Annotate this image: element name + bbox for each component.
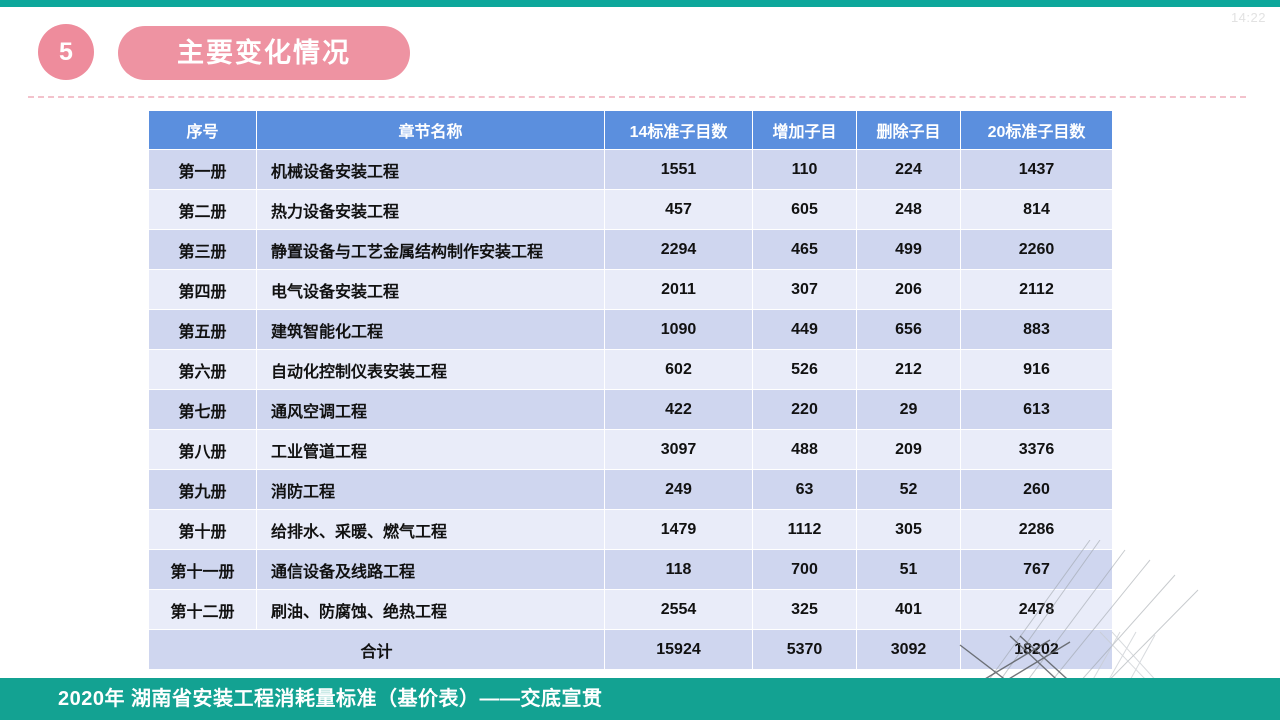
cell-added: 1112 — [753, 510, 857, 550]
cell-total-added: 5370 — [753, 630, 857, 670]
col-header-name: 章节名称 — [257, 111, 605, 150]
col-header-v14: 14标准子目数 — [605, 111, 753, 150]
cell-index: 第三册 — [149, 230, 257, 270]
slide-root: 14:22 5 主要变化情况 序号 章节名称 14标准子目数 增加子目 删除子目… — [0, 0, 1280, 720]
table-row: 第十册 给排水、采暖、燃气工程 1479 1112 305 2286 — [149, 510, 1113, 550]
col-header-index: 序号 — [149, 111, 257, 150]
cell-removed: 212 — [857, 350, 961, 390]
cell-index: 第九册 — [149, 470, 257, 510]
cell-name: 刷油、防腐蚀、绝热工程 — [257, 590, 605, 630]
cell-v20: 2286 — [961, 510, 1113, 550]
cell-v14: 457 — [605, 190, 753, 230]
table-row: 第三册 静置设备与工艺金属结构制作安装工程 2294 465 499 2260 — [149, 230, 1113, 270]
cell-added: 325 — [753, 590, 857, 630]
table-container: 序号 章节名称 14标准子目数 增加子目 删除子目 20标准子目数 第一册 机械… — [148, 110, 1112, 670]
cell-added: 220 — [753, 390, 857, 430]
cell-v14: 602 — [605, 350, 753, 390]
cell-v14: 118 — [605, 550, 753, 590]
cell-index: 第八册 — [149, 430, 257, 470]
cell-v14: 1479 — [605, 510, 753, 550]
cell-v14: 2554 — [605, 590, 753, 630]
cell-removed: 499 — [857, 230, 961, 270]
cell-total-removed: 3092 — [857, 630, 961, 670]
cell-added: 526 — [753, 350, 857, 390]
cell-v20: 883 — [961, 310, 1113, 350]
cell-total-v14: 15924 — [605, 630, 753, 670]
cell-name: 静置设备与工艺金属结构制作安装工程 — [257, 230, 605, 270]
col-header-added: 增加子目 — [753, 111, 857, 150]
cell-added: 307 — [753, 270, 857, 310]
cell-removed: 51 — [857, 550, 961, 590]
cell-v20: 3376 — [961, 430, 1113, 470]
cell-added: 605 — [753, 190, 857, 230]
cell-v14: 249 — [605, 470, 753, 510]
table-row: 第十二册 刷油、防腐蚀、绝热工程 2554 325 401 2478 — [149, 590, 1113, 630]
table-row: 第一册 机械设备安装工程 1551 110 224 1437 — [149, 150, 1113, 190]
cell-index: 第十一册 — [149, 550, 257, 590]
cell-removed: 206 — [857, 270, 961, 310]
cell-v20: 260 — [961, 470, 1113, 510]
cell-v14: 2294 — [605, 230, 753, 270]
cell-v20: 814 — [961, 190, 1113, 230]
cell-v14: 3097 — [605, 430, 753, 470]
table-row: 第五册 建筑智能化工程 1090 449 656 883 — [149, 310, 1113, 350]
changes-table: 序号 章节名称 14标准子目数 增加子目 删除子目 20标准子目数 第一册 机械… — [148, 110, 1113, 670]
cell-added: 110 — [753, 150, 857, 190]
cell-name: 电气设备安装工程 — [257, 270, 605, 310]
cell-v20: 916 — [961, 350, 1113, 390]
cell-index: 第十册 — [149, 510, 257, 550]
cell-index: 第一册 — [149, 150, 257, 190]
page-title: 主要变化情况 — [118, 26, 410, 80]
cell-added: 488 — [753, 430, 857, 470]
cell-name: 消防工程 — [257, 470, 605, 510]
table-row: 第十一册 通信设备及线路工程 118 700 51 767 — [149, 550, 1113, 590]
col-header-v20: 20标准子目数 — [961, 111, 1113, 150]
cell-added: 63 — [753, 470, 857, 510]
cell-added: 449 — [753, 310, 857, 350]
table-header-row: 序号 章节名称 14标准子目数 增加子目 删除子目 20标准子目数 — [149, 111, 1113, 150]
cell-name: 机械设备安装工程 — [257, 150, 605, 190]
cell-v20: 767 — [961, 550, 1113, 590]
cell-name: 通信设备及线路工程 — [257, 550, 605, 590]
cell-total-label: 合计 — [149, 630, 605, 670]
title-divider — [28, 96, 1246, 98]
cell-v20: 2260 — [961, 230, 1113, 270]
cell-removed: 209 — [857, 430, 961, 470]
cell-v14: 1090 — [605, 310, 753, 350]
cell-index: 第五册 — [149, 310, 257, 350]
table-row: 第六册 自动化控制仪表安装工程 602 526 212 916 — [149, 350, 1113, 390]
cell-name: 通风空调工程 — [257, 390, 605, 430]
table-total-row: 合计 15924 5370 3092 18202 — [149, 630, 1113, 670]
cell-name: 自动化控制仪表安装工程 — [257, 350, 605, 390]
table-row: 第二册 热力设备安装工程 457 605 248 814 — [149, 190, 1113, 230]
cell-v20: 2112 — [961, 270, 1113, 310]
cell-added: 700 — [753, 550, 857, 590]
cell-removed: 656 — [857, 310, 961, 350]
table-row: 第八册 工业管道工程 3097 488 209 3376 — [149, 430, 1113, 470]
clock-label: 14:22 — [1231, 10, 1266, 25]
cell-removed: 305 — [857, 510, 961, 550]
cell-v14: 2011 — [605, 270, 753, 310]
cell-total-v20: 18202 — [961, 630, 1113, 670]
cell-removed: 52 — [857, 470, 961, 510]
cell-index: 第二册 — [149, 190, 257, 230]
table-row: 第四册 电气设备安装工程 2011 307 206 2112 — [149, 270, 1113, 310]
cell-v14: 1551 — [605, 150, 753, 190]
top-accent-bar — [0, 0, 1280, 7]
cell-index: 第七册 — [149, 390, 257, 430]
cell-v20: 1437 — [961, 150, 1113, 190]
cell-v20: 613 — [961, 390, 1113, 430]
cell-removed: 224 — [857, 150, 961, 190]
cell-v14: 422 — [605, 390, 753, 430]
cell-name: 给排水、采暖、燃气工程 — [257, 510, 605, 550]
cell-name: 建筑智能化工程 — [257, 310, 605, 350]
cell-removed: 248 — [857, 190, 961, 230]
col-header-removed: 删除子目 — [857, 111, 961, 150]
cell-index: 第六册 — [149, 350, 257, 390]
footer-title: 2020年 湖南省安装工程消耗量标准（基价表）——交底宣贯 — [0, 678, 1280, 720]
table-row: 第九册 消防工程 249 63 52 260 — [149, 470, 1113, 510]
section-number-badge: 5 — [38, 24, 94, 80]
cell-index: 第十二册 — [149, 590, 257, 630]
cell-name: 热力设备安装工程 — [257, 190, 605, 230]
table-body: 第一册 机械设备安装工程 1551 110 224 1437 第二册 热力设备安… — [149, 150, 1113, 670]
cell-v20: 2478 — [961, 590, 1113, 630]
table-header: 序号 章节名称 14标准子目数 增加子目 删除子目 20标准子目数 — [149, 111, 1113, 150]
cell-name: 工业管道工程 — [257, 430, 605, 470]
cell-added: 465 — [753, 230, 857, 270]
cell-removed: 401 — [857, 590, 961, 630]
cell-removed: 29 — [857, 390, 961, 430]
table-row: 第七册 通风空调工程 422 220 29 613 — [149, 390, 1113, 430]
cell-index: 第四册 — [149, 270, 257, 310]
